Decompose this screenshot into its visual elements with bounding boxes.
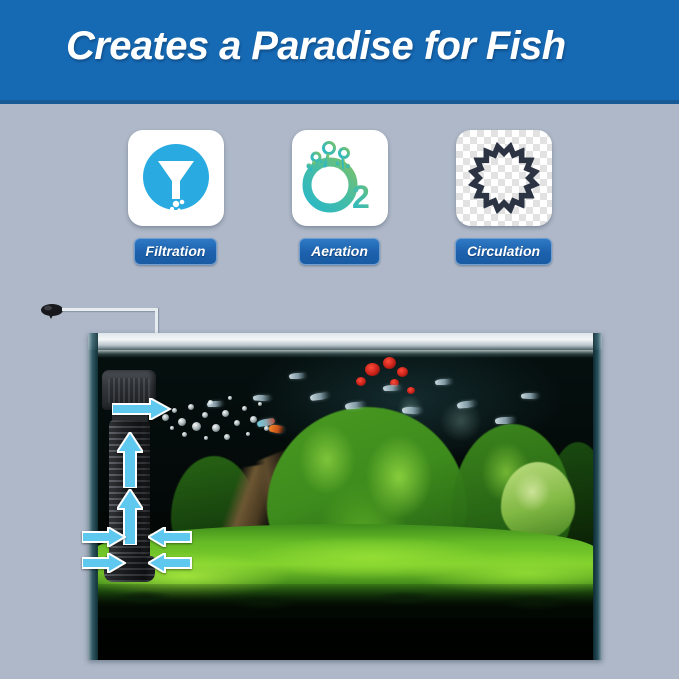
red-plant — [407, 387, 415, 394]
feature-label-aeration: Aeration — [299, 238, 380, 265]
fish — [289, 373, 306, 379]
flow-arrow-intake-right-mid — [82, 527, 126, 547]
fish — [310, 392, 330, 401]
fish — [435, 379, 452, 385]
aeration-icon-card: 2 — [292, 130, 388, 226]
flow-arrow-intake-left-lower — [148, 553, 192, 573]
feature-row: Filtration 2 — [0, 130, 679, 265]
red-plant — [356, 377, 366, 386]
feature-item-aeration: 2 Aeration — [291, 130, 389, 265]
fish — [383, 385, 401, 391]
circulation-icon-card — [456, 130, 552, 226]
feature-label-circulation: Circulation — [455, 238, 552, 265]
air-pump-valve-icon — [40, 303, 66, 319]
header-banner: Creates a Paradise for Fish — [0, 0, 679, 104]
o2-bubbles-icon: 2 — [292, 130, 388, 226]
aquarium-tank-photo — [88, 333, 602, 660]
flow-arrow-outlet-right — [112, 398, 172, 420]
red-plant — [365, 363, 380, 376]
filtration-icon-card — [128, 130, 224, 226]
fish — [521, 393, 539, 400]
page-title: Creates a Paradise for Fish — [66, 24, 566, 69]
water-surface-line — [97, 349, 594, 358]
flow-arrow-intake-left-mid — [148, 527, 192, 547]
feature-item-filtration: Filtration — [127, 130, 225, 265]
tank-glass-right-edge — [593, 333, 602, 660]
tank-water — [97, 349, 594, 660]
red-plant — [397, 367, 408, 377]
fish — [268, 423, 284, 434]
fish — [207, 401, 223, 407]
funnel-filter-icon — [128, 130, 224, 226]
feature-item-circulation: Circulation — [455, 130, 553, 265]
tank-top-rim-light — [88, 333, 602, 350]
fish — [253, 394, 271, 401]
flow-arrow-intake-right-lower — [82, 553, 126, 573]
svg-text:2: 2 — [352, 179, 370, 215]
fish — [495, 417, 515, 424]
feature-label-filtration: Filtration — [134, 238, 218, 265]
circular-arrows-icon — [456, 130, 552, 226]
air-tube-horizontal — [62, 308, 158, 311]
red-plant — [383, 357, 396, 369]
flow-arrow-up-upper — [117, 432, 143, 488]
product-feature-page: Creates a Paradise for Fish Filtration — [0, 0, 679, 679]
